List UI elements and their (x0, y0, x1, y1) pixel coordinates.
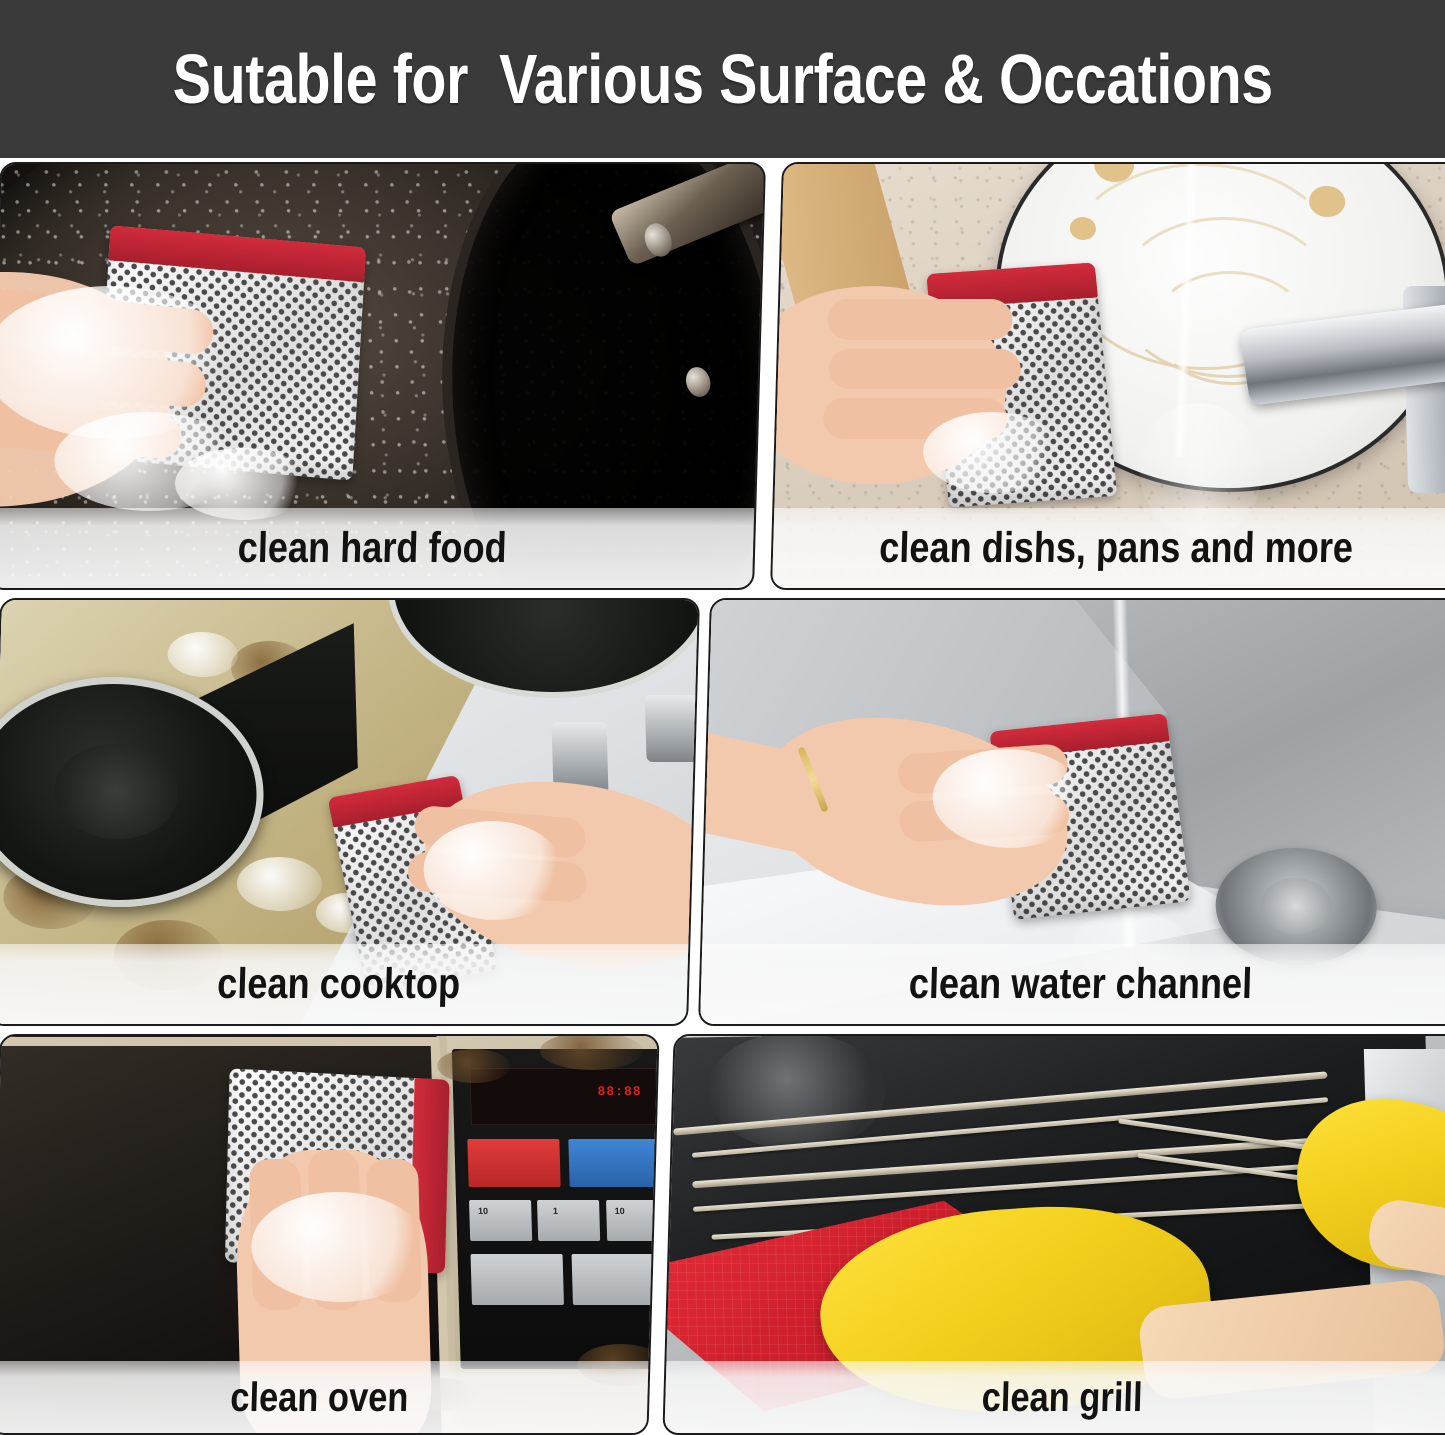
finger (827, 300, 1013, 340)
caption-text: clean oven (230, 1377, 409, 1418)
caption-band: clean oven (0, 1361, 648, 1433)
panel-clean-hard-food[interactable]: clean hard food (0, 162, 766, 590)
caption-text: clean grill (981, 1377, 1143, 1418)
display-text: 88:88 (597, 1084, 641, 1099)
panel-row-1: clean hard food (0, 162, 1445, 590)
control-button-grey[interactable] (605, 1200, 659, 1242)
panel-grid: clean hard food (0, 158, 1445, 1435)
control-button-grey[interactable] (571, 1254, 659, 1305)
caption-band: clean hard food (0, 508, 754, 588)
header-banner: Sutable for Various Surface & Occations (0, 0, 1445, 158)
panel-clean-cooktop[interactable]: clean cooktop (0, 598, 700, 1026)
grime-stain (436, 1049, 510, 1083)
soap-suds (922, 412, 1063, 493)
burner-knob (645, 695, 700, 762)
button-label: 10 (614, 1206, 624, 1216)
button-label: 10 (478, 1206, 488, 1216)
caption-text: clean water channel (908, 963, 1252, 1006)
panel-clean-grill[interactable]: clean grill (662, 1034, 1445, 1435)
panel-clean-dishes[interactable]: clean dishs, pans and more (770, 162, 1445, 590)
soap-foam (236, 857, 323, 911)
soap-suds (422, 821, 565, 920)
panel-row-2: clean cooktop (0, 598, 1445, 1026)
control-button-blue[interactable] (568, 1139, 659, 1187)
caption-text: clean hard food (237, 527, 507, 570)
finger (828, 349, 1021, 389)
caption-text: clean dishs, pans and more (879, 527, 1354, 570)
control-button-grey[interactable] (470, 1254, 564, 1305)
caption-band: clean cooktop (0, 944, 688, 1024)
control-button-red[interactable] (467, 1139, 561, 1187)
caption-band: clean dishs, pans and more (772, 508, 1445, 588)
panel-clean-oven[interactable]: 88:88 10 1 10 (0, 1034, 660, 1435)
control-button-grey[interactable] (537, 1200, 600, 1242)
food-stain (1309, 186, 1346, 217)
caption-band: clean water channel (700, 944, 1445, 1024)
infographic-root: Sutable for Various Surface & Occations (0, 0, 1445, 1435)
panel-row-3: 88:88 10 1 10 (0, 1034, 1445, 1435)
button-label: 1 (552, 1206, 557, 1216)
page-title: Sutable for Various Surface & Occations (172, 44, 1272, 114)
microwave-control-panel: 88:88 10 1 10 (451, 1049, 660, 1369)
soap-suds (249, 1192, 428, 1301)
panel-clean-water-channel[interactable]: clean water channel (698, 598, 1445, 1026)
caption-text: clean cooktop (217, 963, 461, 1006)
caption-band: clean grill (664, 1361, 1445, 1433)
